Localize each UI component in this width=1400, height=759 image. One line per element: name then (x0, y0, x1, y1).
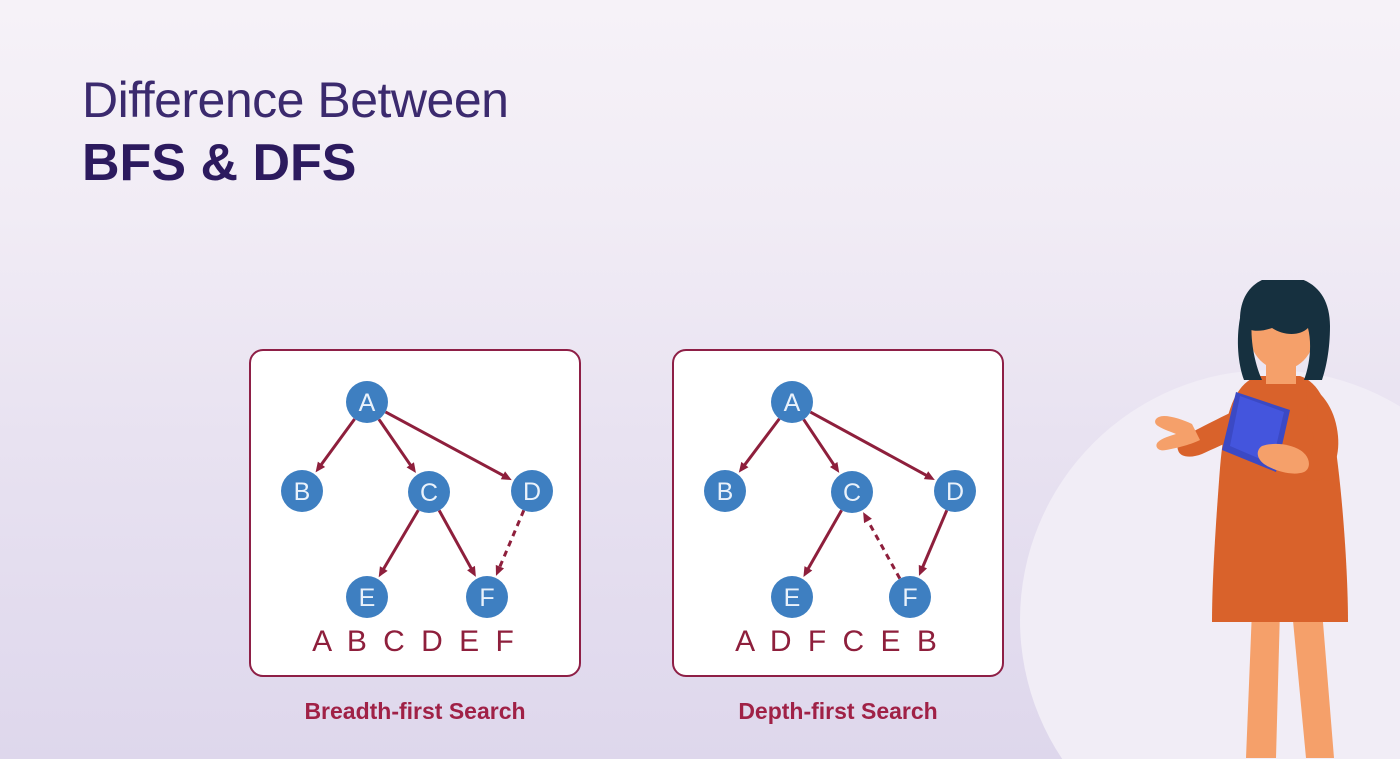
bfs-diagram-panel: ABCDEFA B C D E F (249, 349, 581, 677)
graph-node-label-e: E (359, 584, 376, 612)
arrowhead-D-F (496, 565, 504, 576)
graph-node-label-b: B (717, 478, 734, 506)
bfs-caption: Breadth-first Search (249, 698, 581, 725)
edge-C-E (806, 510, 841, 572)
graph-node-label-c: C (843, 479, 861, 507)
edge-C-E (382, 510, 419, 572)
graph-node-label-b: B (294, 478, 311, 506)
dfs-traversal-sequence: A D F C E B (735, 625, 941, 658)
graph-node-label-c: C (420, 479, 438, 507)
dfs-graph: ABCDEFA D F C E B (674, 351, 1002, 675)
title-line-2: BFS & DFS (82, 134, 508, 192)
bfs-graph: ABCDEFA B C D E F (251, 351, 579, 675)
edge-A-B (319, 419, 354, 468)
slide-canvas: Difference Between BFS & DFS ABCDEFA B C… (0, 0, 1400, 759)
graph-node-label-a: A (359, 389, 376, 417)
page-title: Difference Between BFS & DFS (82, 72, 508, 192)
title-line-1: Difference Between (82, 72, 508, 128)
graph-node-label-e: E (784, 584, 801, 612)
dfs-diagram-panel: ABCDEFA D F C E B (672, 349, 1004, 677)
dfs-caption: Depth-first Search (672, 698, 1004, 725)
edge-D-F (921, 510, 946, 570)
graph-node-label-a: A (784, 389, 801, 417)
edge-A-D (385, 412, 506, 477)
woman-with-tablet-illustration (1100, 280, 1400, 759)
edge-C-F (439, 510, 473, 571)
edge-D-F (498, 510, 523, 570)
graph-node-label-f: F (902, 584, 917, 612)
graph-node-label-d: D (946, 478, 964, 506)
graph-node-label-d: D (523, 478, 541, 506)
edge-A-C (379, 419, 413, 468)
bfs-traversal-sequence: A B C D E F (312, 625, 518, 658)
arrowhead-F-C (863, 512, 872, 523)
graph-node-label-f: F (479, 584, 494, 612)
edge-F-C (866, 517, 900, 578)
edge-A-C (804, 419, 836, 467)
edge-A-D (810, 412, 929, 477)
edge-A-B (742, 419, 779, 468)
